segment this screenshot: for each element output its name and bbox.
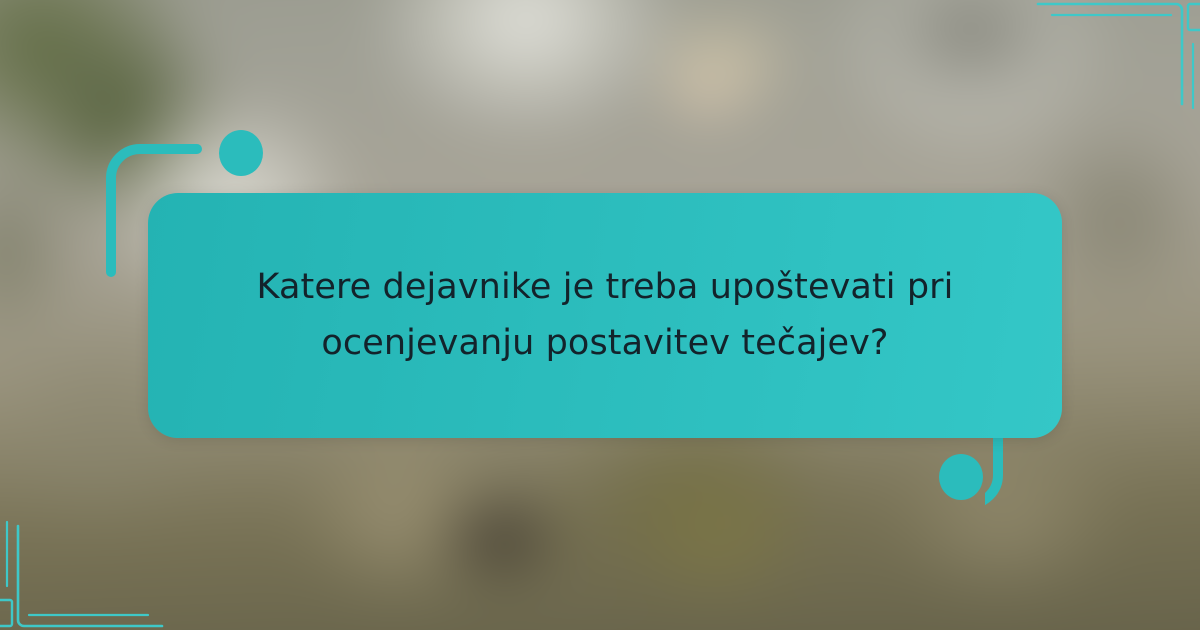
background-blob-pole: [399, 469, 600, 607]
corner-frame-bottom-left: [0, 516, 170, 630]
corner-frame-top-right: [1030, 0, 1200, 114]
question-card-banner: Katere dejavnike je treba upoštevati pri…: [0, 0, 1200, 630]
question-text: Katere dejavnike je treba upoštevati pri…: [148, 260, 1062, 371]
corner-frame-icon: [0, 520, 170, 630]
corner-frame-icon: [1030, 0, 1200, 110]
question-card: Katere dejavnike je treba upoštevati pri…: [148, 193, 1062, 438]
accent-dot-top-left: [219, 130, 263, 176]
accent-dot-bottom-right: [939, 454, 983, 500]
background-blob-hat-highlight: [632, 45, 780, 140]
